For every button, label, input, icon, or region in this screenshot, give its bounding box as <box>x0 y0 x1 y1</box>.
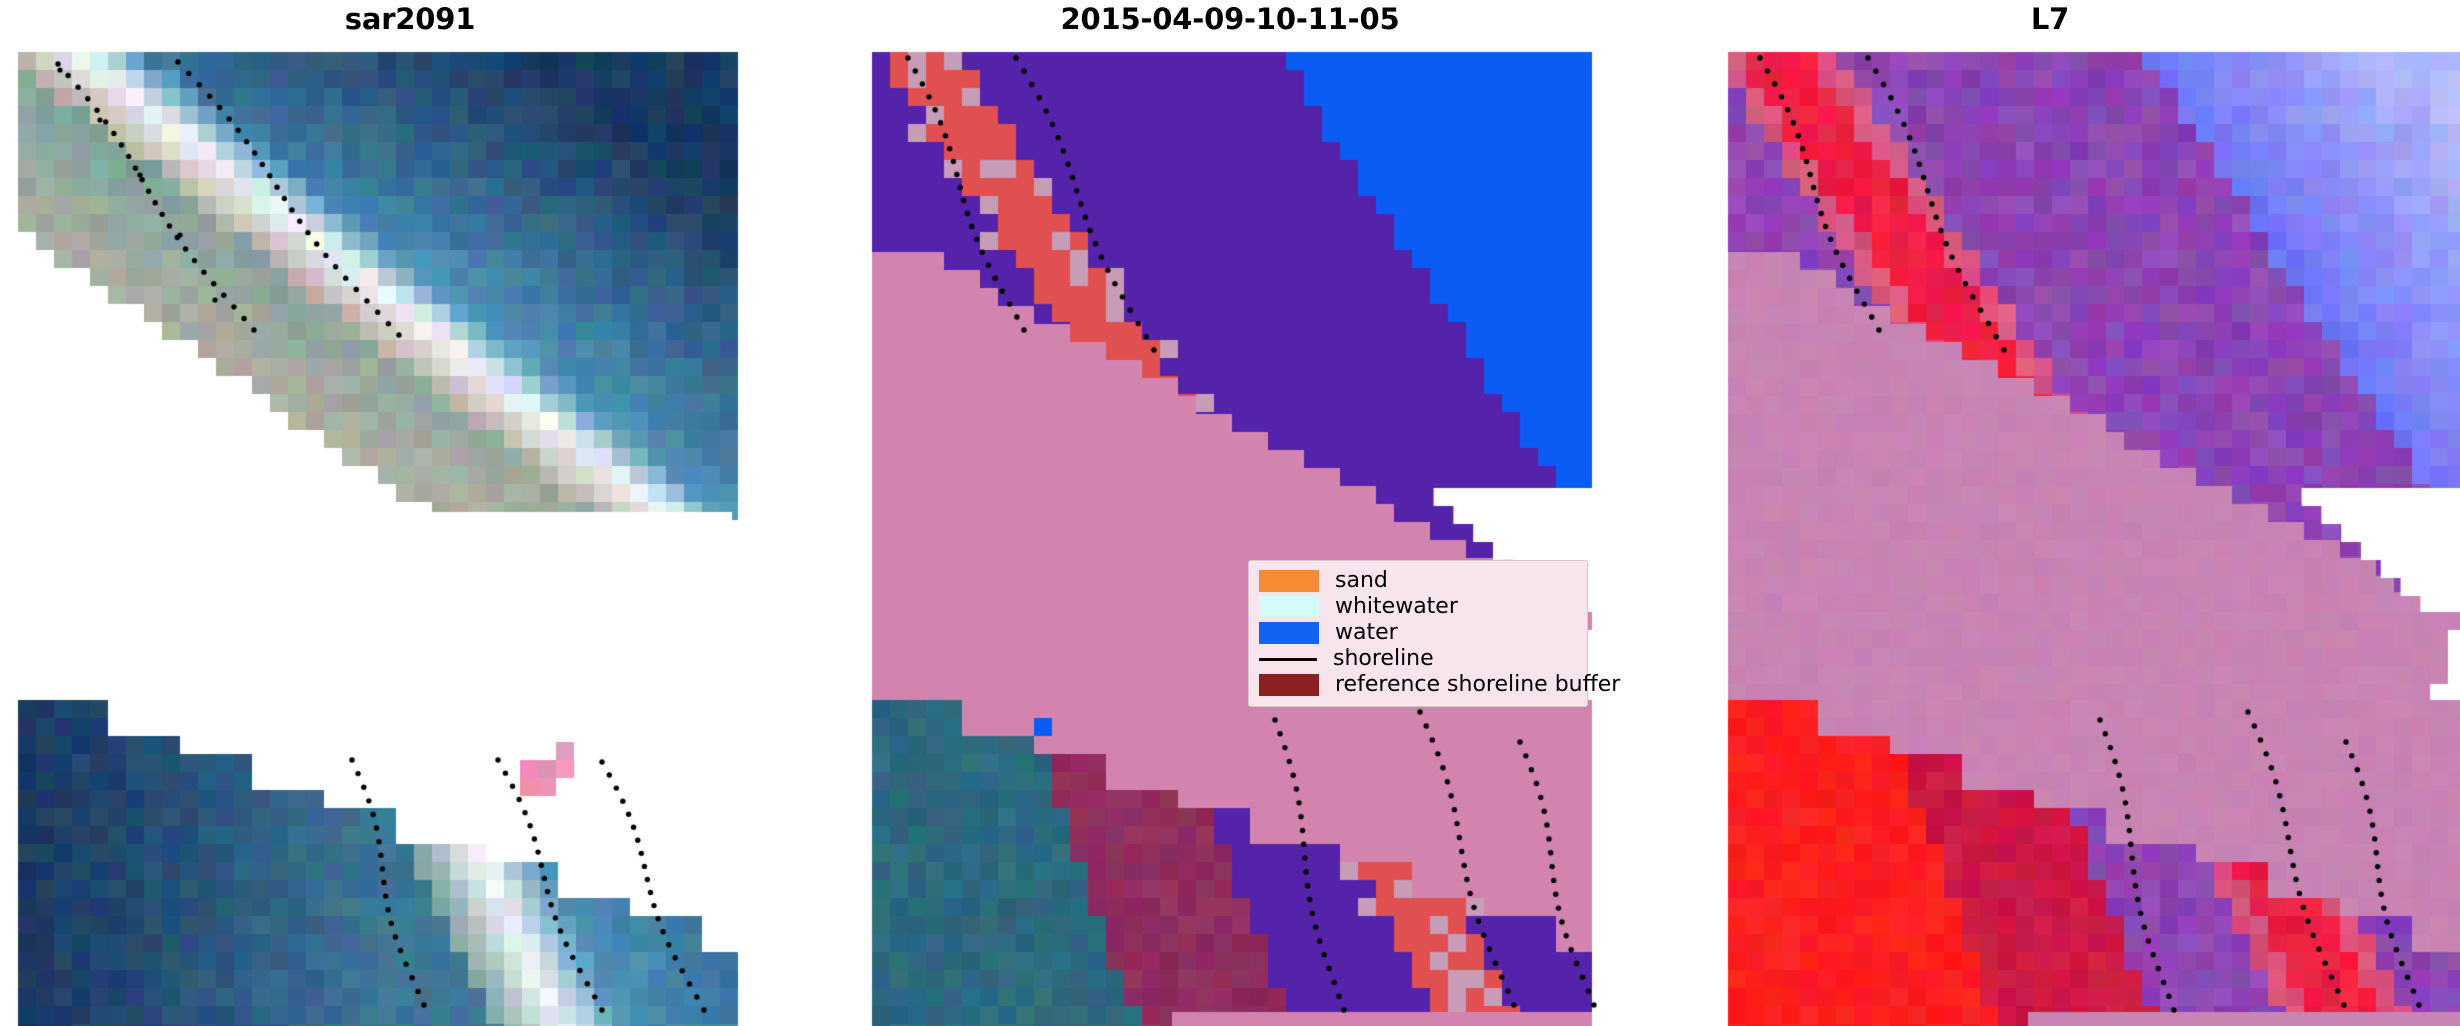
figure-root: sar2091 2015-04-09-10-11-05 L7 sand whit… <box>0 0 2460 1026</box>
legend-label-reference-buffer: reference shoreline buffer <box>1335 674 1620 696</box>
legend-label-whitewater: whitewater <box>1335 596 1458 618</box>
legend-item-shoreline: shoreline <box>1259 646 1577 672</box>
map-legend: sand whitewater water shoreline referenc… <box>1248 560 1588 707</box>
sar2091-image <box>0 0 820 1026</box>
legend-label-sand: sand <box>1335 570 1388 592</box>
sand-swatch-icon <box>1259 570 1319 592</box>
panel-classified: 2015-04-09-10-11-05 <box>820 0 1640 1026</box>
legend-item-sand: sand <box>1259 568 1577 594</box>
legend-label-water: water <box>1335 622 1398 644</box>
whitewater-swatch-icon <box>1259 596 1319 618</box>
legend-item-reference-buffer: reference shoreline buffer <box>1259 672 1577 698</box>
legend-label-shoreline: shoreline <box>1333 648 1434 670</box>
reference-buffer-swatch-icon <box>1259 674 1319 696</box>
legend-item-water: water <box>1259 620 1577 646</box>
l7-image <box>1640 0 2460 1026</box>
panel-l7: L7 <box>1640 0 2460 1026</box>
water-swatch-icon <box>1259 622 1319 644</box>
legend-item-whitewater: whitewater <box>1259 594 1577 620</box>
shoreline-line-icon <box>1259 649 1317 669</box>
panel-sar2091: sar2091 <box>0 0 820 1026</box>
classified-image <box>820 0 1640 1026</box>
